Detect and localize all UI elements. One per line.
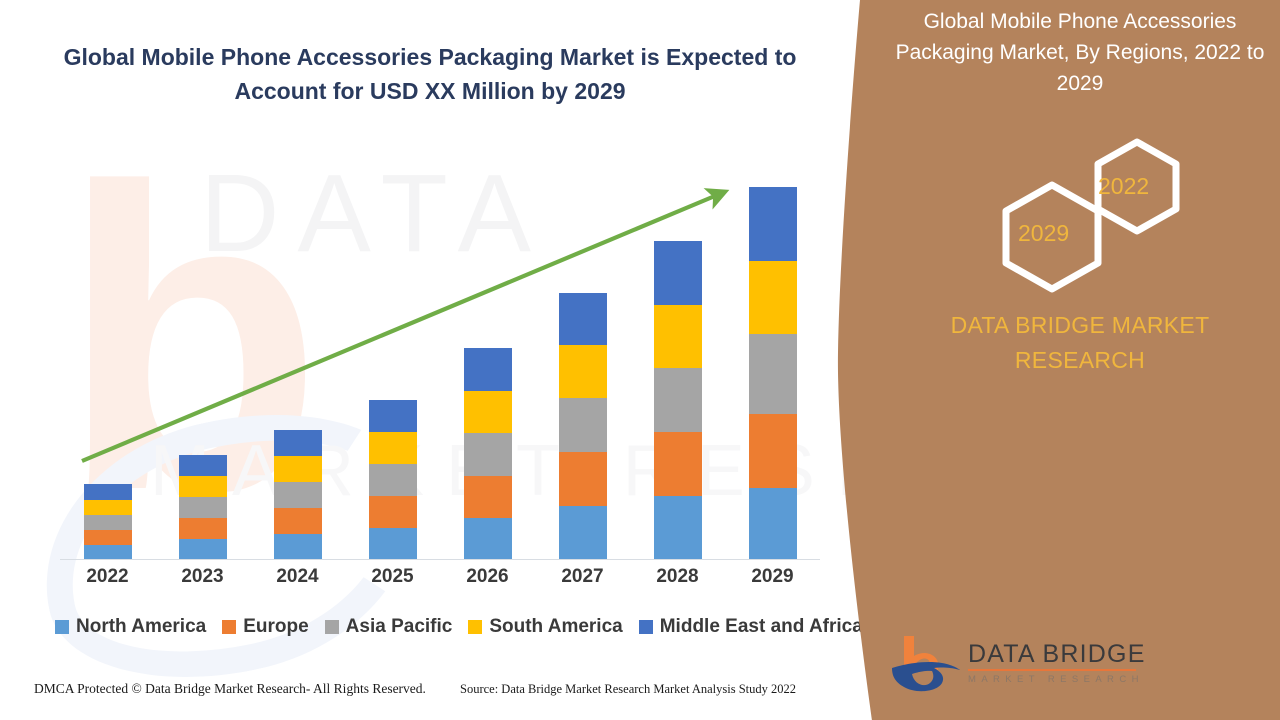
panel-title: Global Mobile Phone Accessories Packagin…: [885, 6, 1275, 99]
dbmr-logo: DATA BRIDGE MARKET RESEARCH: [890, 632, 1150, 702]
bar-2027: [559, 293, 607, 560]
bar-segment: [749, 414, 797, 488]
copyright-text: DMCA Protected © Data Bridge Market Rese…: [34, 681, 426, 697]
badge-year-2022: 2022: [1098, 173, 1149, 200]
legend-item-north-america[interactable]: North America: [55, 616, 206, 638]
legend-label: South America: [489, 616, 622, 638]
infographic-slide: b DATA MARKET RESEARCH Global Mobile Pho…: [0, 0, 1280, 720]
bar-segment: [369, 528, 417, 560]
year-badges: 2022 2029: [880, 130, 1280, 300]
bar-segment: [84, 515, 132, 530]
bar-group: [60, 160, 820, 560]
bar-segment: [369, 400, 417, 432]
bar-segment: [274, 430, 322, 456]
bar-2024: [274, 430, 322, 560]
bar-segment: [464, 433, 512, 476]
legend-item-europe[interactable]: Europe: [222, 616, 308, 638]
chart-plot-area: [60, 160, 820, 560]
logo-divider: [968, 669, 1136, 671]
bar-segment: [179, 476, 227, 497]
bar-segment: [274, 482, 322, 508]
bar-segment: [179, 455, 227, 476]
bar-segment: [749, 261, 797, 334]
bar-segment: [654, 305, 702, 368]
bar-2025: [369, 400, 417, 560]
right-panel: Global Mobile Phone Accessories Packagin…: [880, 0, 1280, 720]
bar-segment: [84, 500, 132, 515]
bar-2026: [464, 348, 512, 560]
bar-segment: [274, 534, 322, 560]
logo-mark-icon: [890, 632, 966, 696]
chart-title: Global Mobile Phone Accessories Packagin…: [40, 40, 820, 108]
legend-label: Middle East and Africa: [660, 616, 863, 638]
bar-segment: [464, 348, 512, 391]
bar-segment: [84, 545, 132, 560]
legend-swatch-icon: [55, 620, 69, 634]
source-text: Source: Data Bridge Market Research Mark…: [460, 682, 796, 697]
bar-2029: [749, 187, 797, 560]
legend-swatch-icon: [468, 620, 482, 634]
legend-label: Asia Pacific: [346, 616, 453, 638]
bar-segment: [84, 484, 132, 500]
bar-segment: [559, 345, 607, 398]
logo-subtitle: MARKET RESEARCH: [968, 674, 1148, 685]
bar-segment: [369, 496, 417, 528]
bar-segment: [559, 452, 607, 506]
legend-swatch-icon: [639, 620, 653, 634]
x-label-2025: 2025: [358, 566, 428, 588]
bar-segment: [369, 464, 417, 496]
hexagon-outlines-icon: [880, 130, 1280, 300]
bar-segment: [274, 456, 322, 482]
x-label-2028: 2028: [643, 566, 713, 588]
bar-segment: [654, 432, 702, 496]
bar-segment: [84, 530, 132, 545]
bar-segment: [179, 518, 227, 539]
chart-legend: North AmericaEuropeAsia PacificSouth Ame…: [55, 616, 845, 638]
bar-segment: [559, 293, 607, 345]
x-label-2023: 2023: [168, 566, 238, 588]
bar-segment: [749, 187, 797, 261]
logo-name: DATA BRIDGE: [968, 640, 1148, 668]
legend-item-asia-pacific[interactable]: Asia Pacific: [325, 616, 453, 638]
legend-item-south-america[interactable]: South America: [468, 616, 622, 638]
legend-item-middle-east-and-africa[interactable]: Middle East and Africa: [639, 616, 863, 638]
badge-year-2029: 2029: [1018, 220, 1069, 247]
bar-segment: [654, 368, 702, 432]
x-axis-line: [60, 559, 820, 560]
bar-segment: [559, 398, 607, 452]
legend-label: North America: [76, 616, 206, 638]
bar-segment: [179, 539, 227, 560]
bar-segment: [179, 497, 227, 518]
bar-segment: [464, 518, 512, 560]
bar-segment: [749, 488, 797, 560]
bar-segment: [369, 432, 417, 464]
bar-2023: [179, 455, 227, 560]
x-label-2024: 2024: [263, 566, 333, 588]
bar-2022: [84, 484, 132, 560]
x-label-2027: 2027: [548, 566, 618, 588]
bar-segment: [274, 508, 322, 534]
x-label-2029: 2029: [738, 566, 808, 588]
legend-swatch-icon: [325, 620, 339, 634]
panel-brand-text: DATA BRIDGE MARKET RESEARCH: [890, 308, 1270, 378]
bar-segment: [749, 334, 797, 414]
legend-swatch-icon: [222, 620, 236, 634]
x-label-2026: 2026: [453, 566, 523, 588]
legend-label: Europe: [243, 616, 308, 638]
logo-text-block: DATA BRIDGE MARKET RESEARCH: [968, 640, 1148, 685]
bar-segment: [464, 476, 512, 518]
bar-segment: [654, 241, 702, 305]
bar-segment: [464, 391, 512, 433]
bar-segment: [654, 496, 702, 560]
bar-2028: [654, 241, 702, 560]
bar-segment: [559, 506, 607, 560]
x-axis-labels: 20222023202420252026202720282029: [60, 566, 820, 588]
x-label-2022: 2022: [73, 566, 143, 588]
